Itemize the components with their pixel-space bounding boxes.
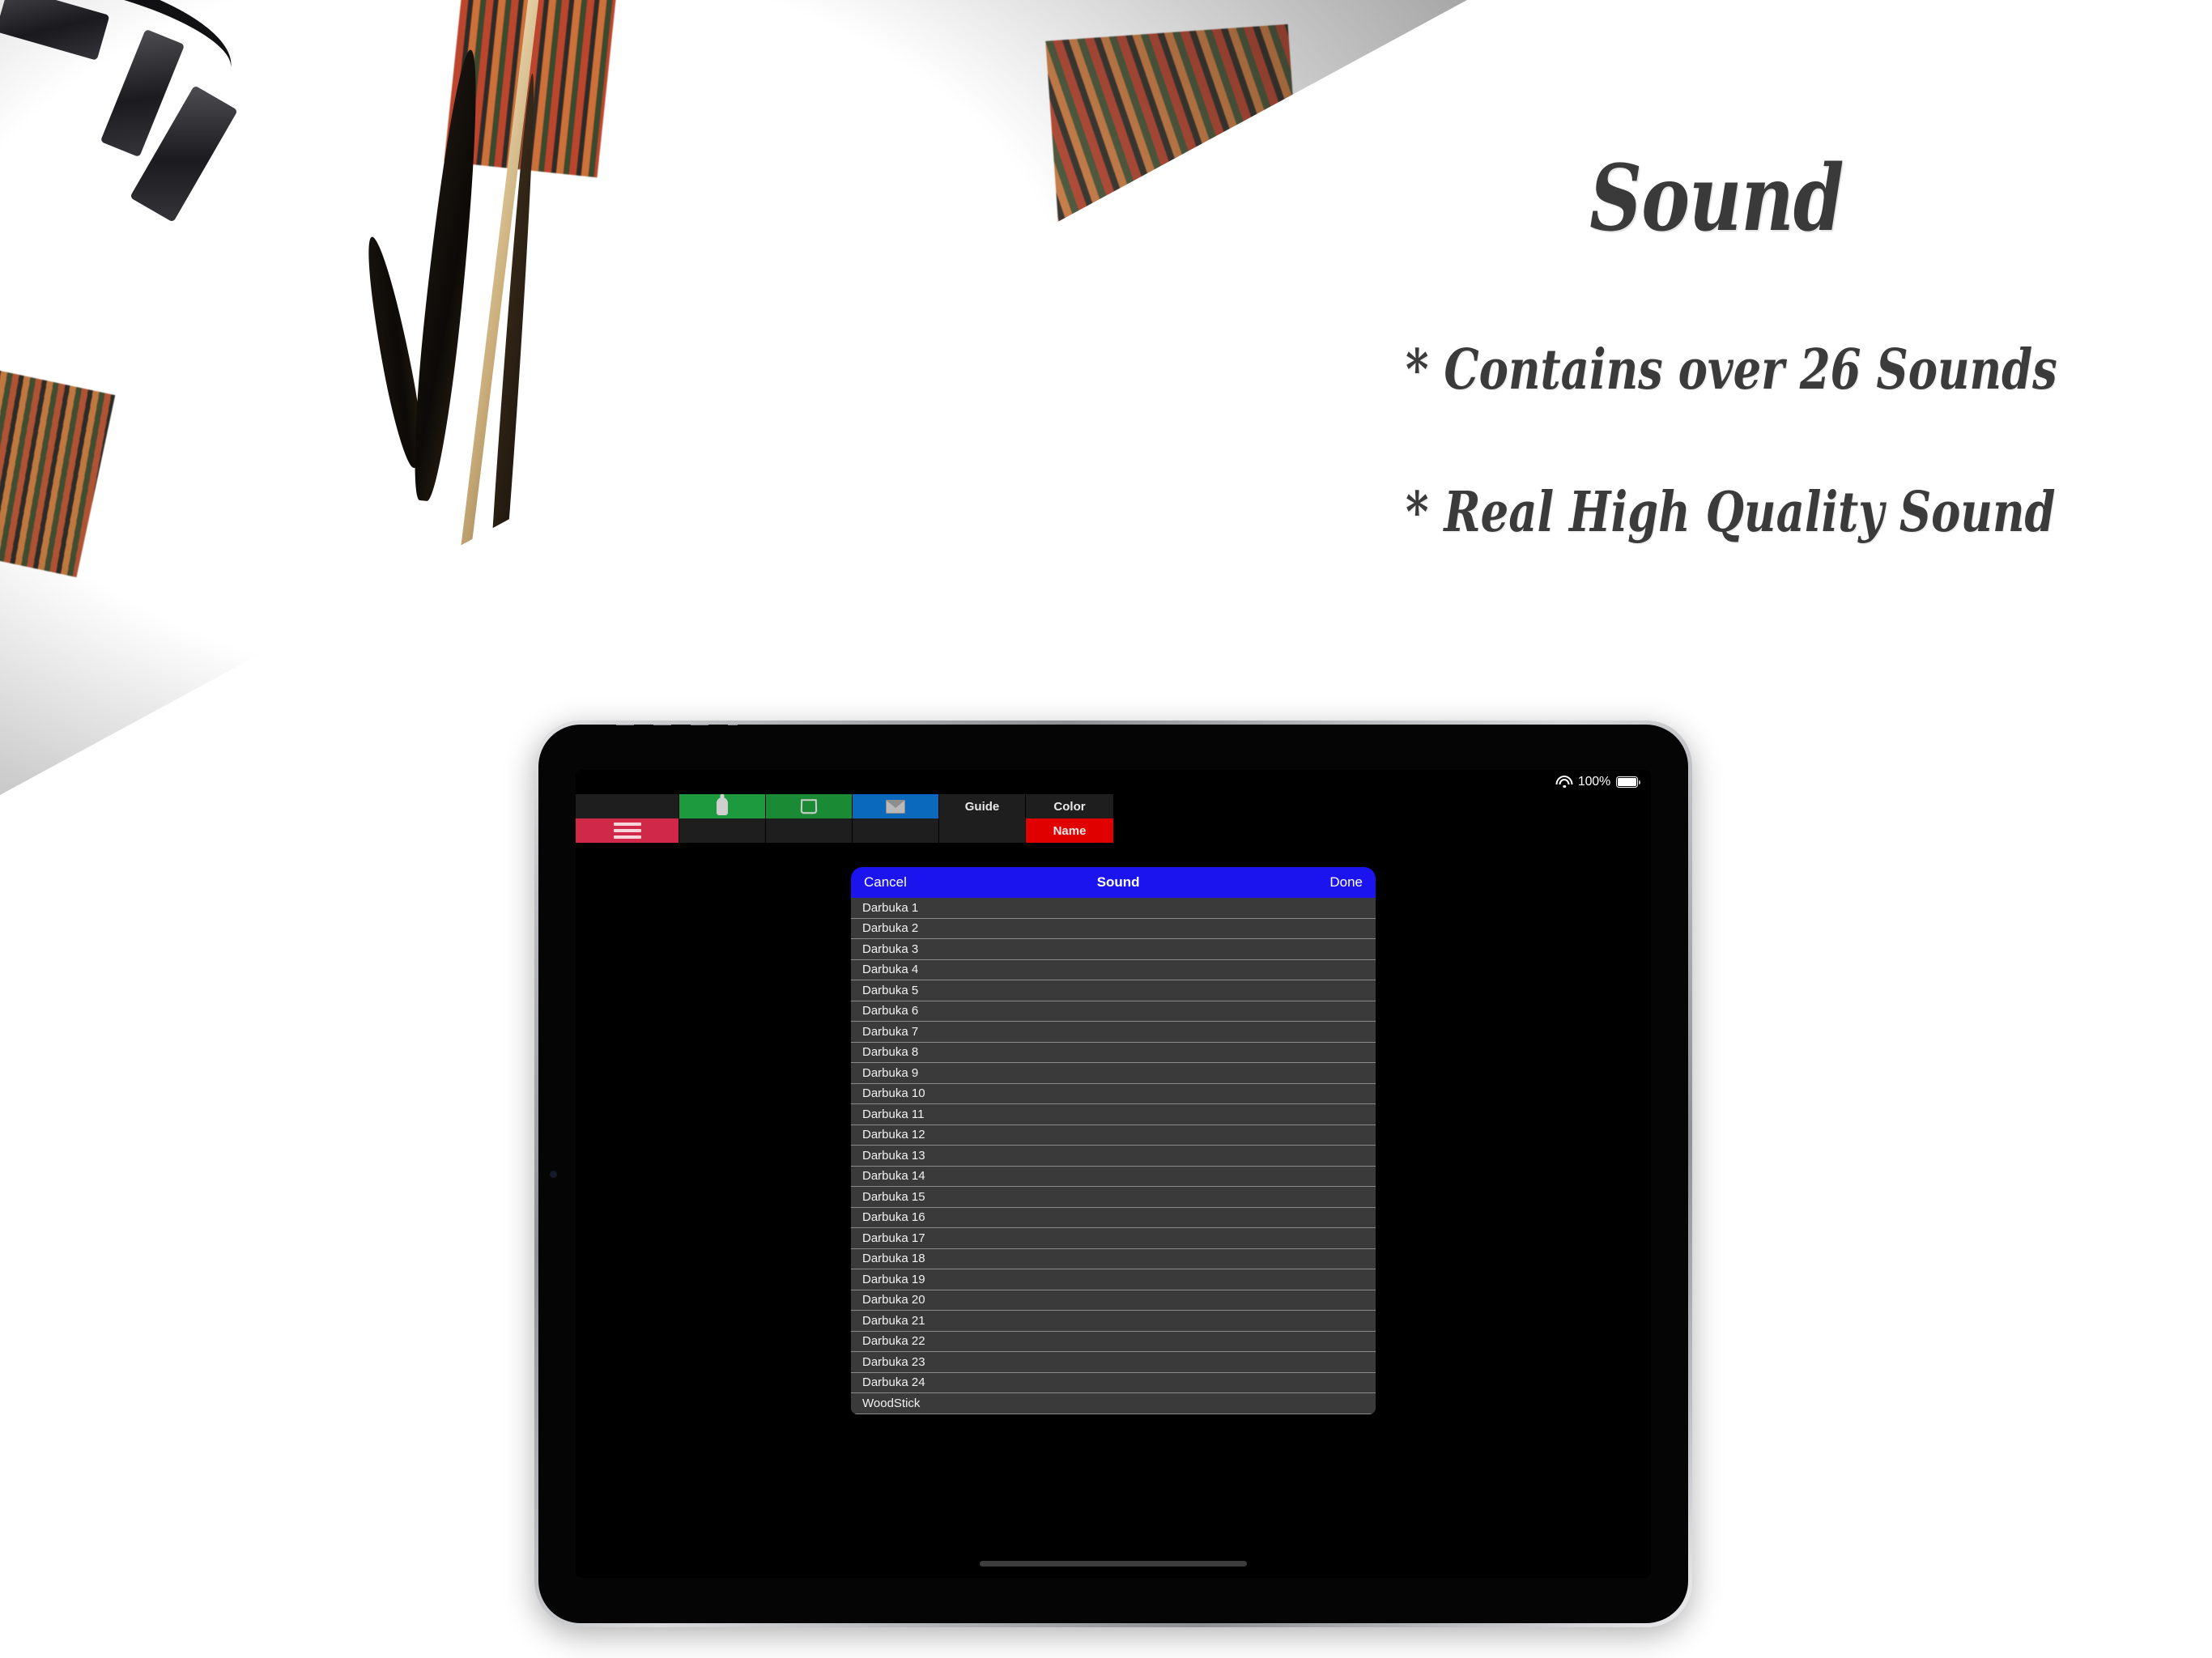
modal-title: Sound xyxy=(907,874,1329,891)
list-item-label: Darbuka 2 xyxy=(862,921,918,935)
list-item[interactable]: Darbuka 16 xyxy=(851,1208,1376,1229)
toolbar-cell-mail[interactable] xyxy=(853,794,939,818)
list-item-label: Darbuka 18 xyxy=(862,1252,925,1265)
list-item[interactable]: Darbuka 18 xyxy=(851,1249,1376,1270)
list-item[interactable]: Darbuka 2 xyxy=(851,919,1376,940)
toolbar-cell-empty[interactable] xyxy=(576,794,679,818)
toolbar-cell-empty[interactable] xyxy=(679,818,766,843)
list-item-label: Darbuka 14 xyxy=(862,1169,925,1183)
toolbar-cell-bottle[interactable] xyxy=(679,794,766,818)
feature-bullet-2: * Real High Quality Sound xyxy=(1406,484,2027,542)
toolbar-top: Guide Color xyxy=(576,794,1651,818)
battery-icon xyxy=(1616,776,1638,788)
sound-list[interactable]: Darbuka 1Darbuka 2Darbuka 3Darbuka 4Darb… xyxy=(851,898,1376,1414)
list-item-label: Darbuka 13 xyxy=(862,1149,925,1163)
cup-icon xyxy=(801,799,818,814)
list-item[interactable]: Darbuka 6 xyxy=(851,1001,1376,1022)
list-item-label: Darbuka 23 xyxy=(862,1355,925,1369)
sound-picker-modal: Cancel Sound Done Darbuka 1Darbuka 2Darb… xyxy=(851,867,1376,1414)
list-item[interactable]: Darbuka 13 xyxy=(851,1146,1376,1167)
list-item[interactable]: Darbuka 20 xyxy=(851,1290,1376,1312)
list-item[interactable]: Darbuka 21 xyxy=(851,1311,1376,1332)
list-item-label: Darbuka 9 xyxy=(862,1066,918,1080)
list-item[interactable]: Darbuka 15 xyxy=(851,1187,1376,1208)
hero-photo xyxy=(0,0,1482,810)
list-item-label: Darbuka 22 xyxy=(862,1334,925,1348)
toolbar-cell-cup[interactable] xyxy=(766,794,853,818)
list-item[interactable]: Darbuka 22 xyxy=(851,1332,1376,1353)
mail-icon xyxy=(886,800,905,814)
name-label: Name xyxy=(1053,824,1087,838)
list-item-label: Darbuka 10 xyxy=(862,1086,925,1100)
list-item-label: Darbuka 1 xyxy=(862,901,918,915)
toolbar-cell-empty[interactable] xyxy=(766,818,853,843)
toolbar-cell-color[interactable]: Color xyxy=(1026,794,1113,818)
list-item[interactable]: Darbuka 7 xyxy=(851,1022,1376,1043)
list-item[interactable]: Darbuka 24 xyxy=(851,1373,1376,1394)
list-item[interactable]: Darbuka 9 xyxy=(851,1063,1376,1084)
list-item-label: WoodStick xyxy=(862,1397,920,1410)
name-button[interactable]: Name xyxy=(1026,818,1113,843)
list-item[interactable]: Darbuka 1 xyxy=(851,898,1376,919)
list-item[interactable]: Darbuka 23 xyxy=(851,1352,1376,1373)
front-camera xyxy=(550,1171,557,1178)
list-item-label: Darbuka 3 xyxy=(862,942,918,956)
home-indicator xyxy=(980,1561,1247,1567)
bottle-icon xyxy=(717,797,728,815)
done-button[interactable]: Done xyxy=(1329,874,1363,891)
list-item[interactable]: Darbuka 17 xyxy=(851,1228,1376,1249)
page-title: Sound xyxy=(1406,154,2027,244)
list-item[interactable]: Darbuka 8 xyxy=(851,1043,1376,1064)
toolbar-cell-guide[interactable]: Guide xyxy=(939,794,1026,818)
status-bar: 100% xyxy=(576,770,1651,794)
list-item-label: Darbuka 15 xyxy=(862,1190,925,1204)
list-item-label: Darbuka 5 xyxy=(862,984,918,997)
tablet-device: 100% Guide Color xyxy=(534,721,1692,1627)
cancel-button[interactable]: Cancel xyxy=(864,874,907,891)
list-item[interactable]: WoodStick xyxy=(851,1393,1376,1414)
list-item-label: Darbuka 12 xyxy=(862,1128,925,1141)
photo-vignette xyxy=(0,0,1482,810)
menu-button[interactable] xyxy=(576,818,679,843)
toolbar-cell-empty[interactable] xyxy=(853,818,939,843)
list-item-label: Darbuka 17 xyxy=(862,1231,925,1245)
hamburger-icon xyxy=(614,819,641,842)
list-item-label: Darbuka 7 xyxy=(862,1025,918,1039)
battery-percent-label: 100% xyxy=(1578,775,1610,789)
list-item-label: Darbuka 6 xyxy=(862,1004,918,1018)
list-item-label: Darbuka 8 xyxy=(862,1045,918,1059)
modal-header: Cancel Sound Done xyxy=(851,867,1376,898)
list-item[interactable]: Darbuka 12 xyxy=(851,1125,1376,1146)
color-label: Color xyxy=(1053,800,1085,814)
list-item[interactable]: Darbuka 11 xyxy=(851,1104,1376,1125)
toolbar-cell-empty[interactable] xyxy=(939,818,1026,843)
list-item-label: Darbuka 19 xyxy=(862,1273,925,1286)
tablet-screen: 100% Guide Color xyxy=(576,770,1651,1578)
list-item[interactable]: Darbuka 19 xyxy=(851,1269,1376,1290)
list-item-label: Darbuka 21 xyxy=(862,1314,925,1328)
list-item[interactable]: Darbuka 10 xyxy=(851,1084,1376,1105)
toolbar-bottom: Name xyxy=(576,818,1651,843)
list-item[interactable]: Darbuka 3 xyxy=(851,939,1376,960)
list-item-label: Darbuka 11 xyxy=(862,1107,924,1121)
app-canvas: Cancel Sound Done Darbuka 1Darbuka 2Darb… xyxy=(576,843,1651,1578)
guide-label: Guide xyxy=(965,800,1000,814)
list-item[interactable]: Darbuka 4 xyxy=(851,960,1376,981)
drum-photograph xyxy=(0,0,1482,810)
feature-bullets: * Contains over 26 Sounds * Real High Qu… xyxy=(1328,342,2105,542)
wifi-icon xyxy=(1557,776,1572,788)
list-item[interactable]: Darbuka 14 xyxy=(851,1167,1376,1188)
feature-bullet-1: * Contains over 26 Sounds xyxy=(1406,342,2027,399)
list-item-label: Darbuka 4 xyxy=(862,963,918,976)
marketing-copy: Sound * Contains over 26 Sounds * Real H… xyxy=(1328,154,2105,627)
tablet-bezel: 100% Guide Color xyxy=(538,725,1688,1623)
list-item-label: Darbuka 24 xyxy=(862,1375,925,1389)
list-item-label: Darbuka 16 xyxy=(862,1210,925,1224)
antenna-line xyxy=(616,725,738,725)
list-item[interactable]: Darbuka 5 xyxy=(851,980,1376,1001)
list-item-label: Darbuka 20 xyxy=(862,1293,925,1307)
